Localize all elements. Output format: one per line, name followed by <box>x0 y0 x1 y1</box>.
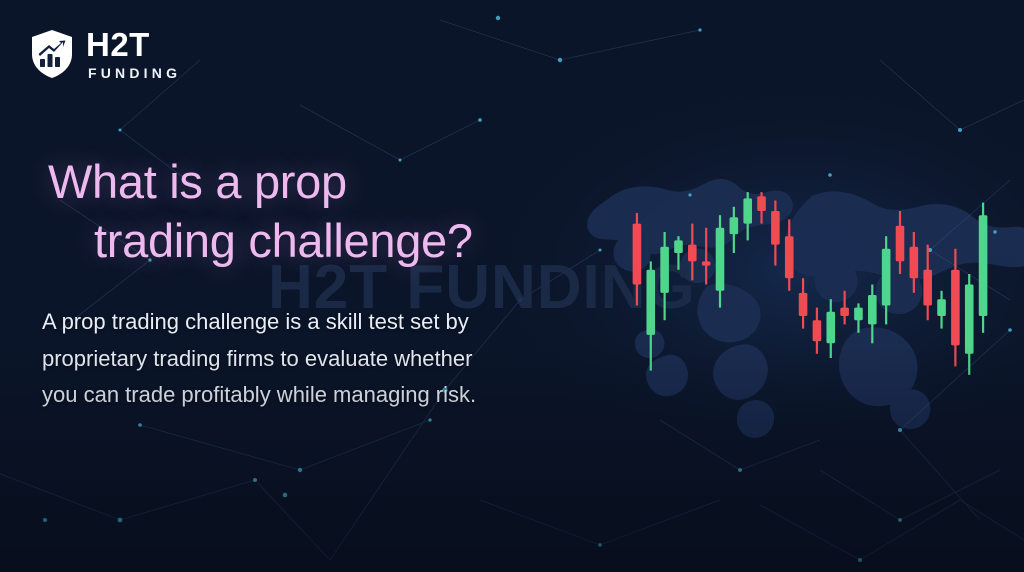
candlestick <box>785 219 794 290</box>
brand-tagline: FUNDING <box>88 66 181 80</box>
candlestick <box>854 303 863 332</box>
candlestick <box>716 215 725 307</box>
candlestick <box>688 224 697 281</box>
hero-copy: What is a proptrading challenge? A prop … <box>48 152 618 414</box>
candlestick <box>702 228 711 285</box>
page-title: What is a proptrading challenge? <box>48 152 618 270</box>
candlestick <box>674 236 683 270</box>
candlestick <box>923 245 932 321</box>
candlestick <box>937 291 946 329</box>
headline-line-2: trading challenge? <box>94 211 618 270</box>
candlestick <box>979 203 988 333</box>
hero-description: A prop trading challenge is a skill test… <box>42 304 618 414</box>
brand-wordmark: H2T FUNDING <box>86 28 181 80</box>
candlestick <box>826 299 835 358</box>
candlestick <box>951 249 960 367</box>
candlestick <box>813 308 822 354</box>
candlestick <box>799 278 808 328</box>
candlestick <box>633 213 642 305</box>
candlestick <box>868 285 877 344</box>
headline-line-1: What is a prop <box>48 155 347 208</box>
candlestick <box>965 274 974 375</box>
candlestick <box>660 232 669 320</box>
brand-logo[interactable]: H2T FUNDING <box>30 28 181 80</box>
candlestick <box>882 236 891 324</box>
candlestick <box>730 207 739 253</box>
candlestick <box>910 232 919 293</box>
brand-name: H2T <box>86 28 181 61</box>
candlestick <box>646 261 655 370</box>
candlestick <box>840 291 849 325</box>
shield-chart-icon <box>30 29 74 79</box>
hero-banner: H2T FUNDING H2T FUNDING What is a proptr… <box>0 0 1024 572</box>
candlestick <box>896 211 905 274</box>
candlestick <box>771 201 780 266</box>
candlestick <box>757 192 766 224</box>
candlestick <box>743 192 752 240</box>
